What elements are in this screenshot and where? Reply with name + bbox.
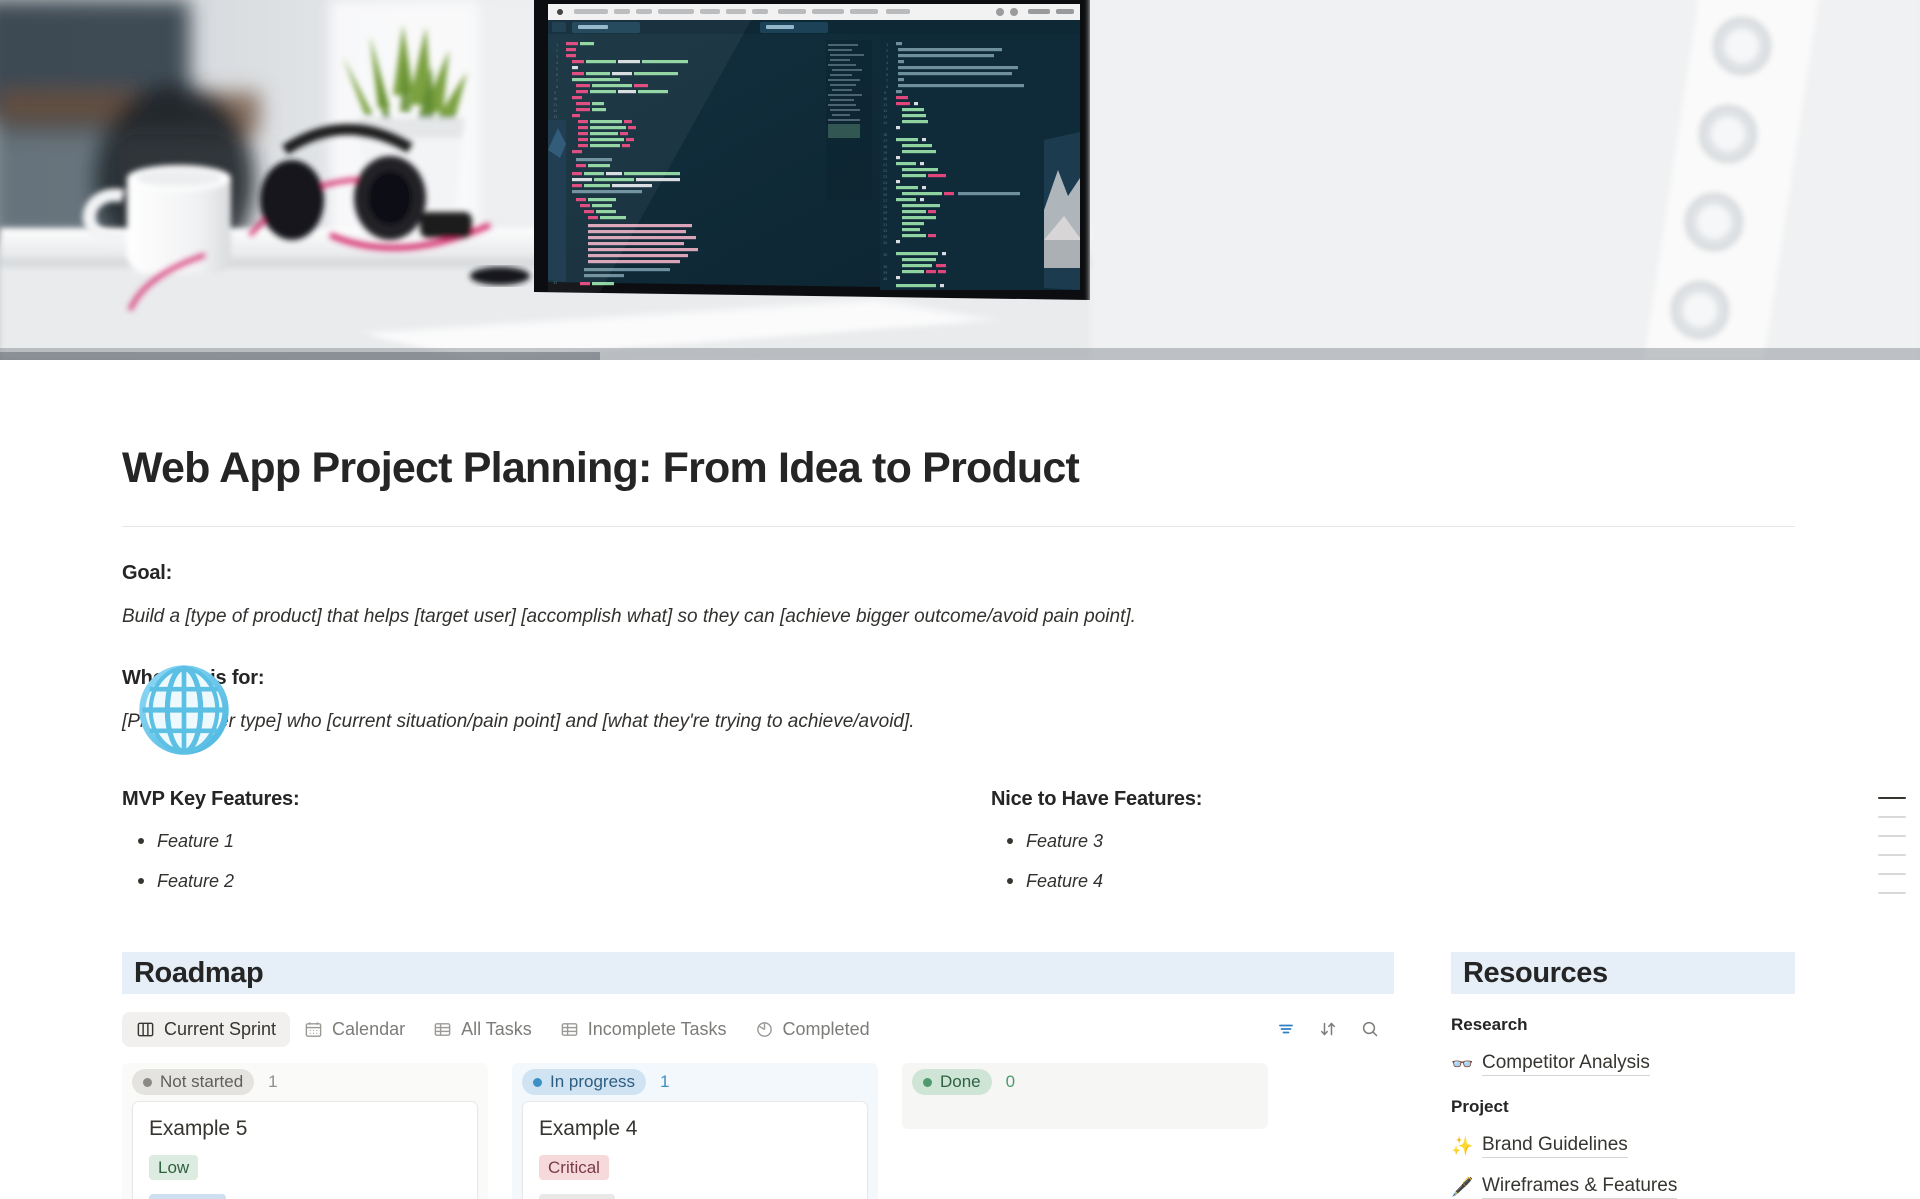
- svg-text:1: 1: [886, 43, 888, 47]
- search-icon[interactable]: [1360, 1019, 1380, 1039]
- kanban-column-body: [902, 1101, 1268, 1111]
- toc-line[interactable]: [1878, 892, 1906, 894]
- task-tag-row: Bug Fix: [539, 1194, 851, 1199]
- nice-to-have-features-column: Nice to Have Features: Feature 3 Feature…: [991, 788, 1791, 895]
- roadmap-section: Roadmap Current Sprint: [122, 952, 1394, 1199]
- svg-text:22: 22: [883, 169, 887, 173]
- svg-text:25: 25: [883, 187, 887, 191]
- goal-text: Build a [type of product] that helps [ta…: [122, 603, 1795, 632]
- toc-line[interactable]: [1878, 873, 1906, 875]
- priority-tag: Low: [149, 1155, 198, 1180]
- status-label: Done: [940, 1072, 981, 1092]
- kanban-column-body: Example 5 Low Feature: [122, 1101, 488, 1199]
- toc-line[interactable]: [1878, 797, 1906, 799]
- roadmap-title-band: Roadmap: [122, 952, 1394, 994]
- task-tag-row: Critical: [539, 1155, 851, 1180]
- task-title: Example 5: [149, 1117, 461, 1141]
- table-icon: [433, 1020, 452, 1039]
- status-badge[interactable]: Done: [912, 1069, 992, 1095]
- status-badge[interactable]: In progress: [522, 1069, 646, 1095]
- resources-group-title: Research: [1451, 1015, 1795, 1035]
- svg-text:29: 29: [883, 211, 887, 215]
- globe-icon[interactable]: [122, 658, 246, 762]
- status-dot-icon: [143, 1078, 152, 1087]
- roadmap-title: Roadmap: [134, 957, 263, 990]
- list-item: Feature 1: [122, 828, 991, 855]
- features-columns: MVP Key Features: Feature 1 Feature 2 Ni…: [122, 788, 1795, 895]
- resource-link-label: Wireframes & Features: [1482, 1175, 1677, 1199]
- status-dot-icon: [533, 1078, 542, 1087]
- svg-text:31: 31: [883, 223, 887, 227]
- svg-text:8: 8: [886, 85, 888, 89]
- kanban-column-header: Not started 1: [122, 1063, 488, 1101]
- pie-chart-icon: [755, 1020, 774, 1039]
- title-divider: [122, 526, 1795, 527]
- status-label: In progress: [550, 1072, 635, 1092]
- audience-text: [Primary user type] who [current situati…: [122, 708, 1795, 737]
- svg-text:21: 21: [883, 163, 887, 167]
- svg-text:33: 33: [883, 235, 887, 239]
- task-tag-row: Feature: [149, 1194, 461, 1199]
- tab-calendar[interactable]: Calendar: [290, 1012, 419, 1047]
- task-title: Example 4: [539, 1117, 851, 1141]
- kanban-column-header: In progress 1: [512, 1063, 878, 1101]
- card-count: 0: [1006, 1072, 1015, 1092]
- tab-label: Completed: [783, 1019, 870, 1040]
- task-tag-row: Low: [149, 1155, 461, 1180]
- resource-link-label: Competitor Analysis: [1482, 1052, 1650, 1076]
- kanban-column-header: Done 0: [902, 1063, 1268, 1101]
- resource-link-label: Brand Guidelines: [1482, 1134, 1628, 1158]
- kanban-column-done: Done 0: [902, 1063, 1268, 1129]
- svg-text:19: 19: [883, 151, 887, 155]
- svg-text:18: 18: [883, 145, 887, 149]
- svg-text:16: 16: [883, 133, 887, 137]
- svg-text:9: 9: [884, 91, 886, 95]
- resources-title: Resources: [1463, 957, 1608, 990]
- svg-text:11: 11: [883, 103, 887, 107]
- priority-tag: Critical: [539, 1155, 609, 1180]
- nice-to-have-heading: Nice to Have Features:: [991, 788, 1791, 811]
- lower-section: Roadmap Current Sprint: [122, 952, 1795, 1199]
- svg-text:13: 13: [883, 115, 887, 119]
- board-icon: [136, 1020, 155, 1039]
- svg-text:12: 12: [883, 109, 887, 113]
- status-dot-icon: [923, 1078, 932, 1087]
- kanban-board: Not started 1 Example 5 Low: [122, 1063, 1394, 1199]
- status-badge[interactable]: Not started: [132, 1069, 254, 1095]
- resource-link-wireframes-features[interactable]: 🖋️ Wireframes & Features: [1451, 1175, 1795, 1199]
- svg-text:27: 27: [883, 199, 887, 203]
- glasses-icon: 👓: [1451, 1054, 1473, 1075]
- audience-heading: Who is this for:: [122, 667, 1795, 690]
- resources-section: Resources Research 👓 Competitor Analysis…: [1451, 952, 1795, 1199]
- svg-text:38: 38: [883, 265, 887, 269]
- svg-text:10: 10: [883, 97, 887, 101]
- mvp-features-column: MVP Key Features: Feature 1 Feature 2: [122, 788, 991, 895]
- table-of-contents-indicator[interactable]: [1866, 797, 1906, 894]
- sort-icon[interactable]: [1318, 1019, 1338, 1039]
- tab-current-sprint[interactable]: Current Sprint: [122, 1012, 290, 1047]
- resource-link-competitor-analysis[interactable]: 👓 Competitor Analysis: [1451, 1052, 1795, 1076]
- fountain-pen-icon: 🖋️: [1451, 1177, 1473, 1198]
- svg-text:24: 24: [883, 181, 887, 185]
- resources-group-research: Research 👓 Competitor Analysis: [1451, 1015, 1795, 1076]
- svg-text:2: 2: [886, 49, 888, 53]
- resource-link-brand-guidelines[interactable]: ✨ Brand Guidelines: [1451, 1134, 1795, 1158]
- tab-label: All Tasks: [461, 1019, 532, 1040]
- toc-line[interactable]: [1878, 835, 1906, 837]
- list-item: Feature 2: [122, 868, 991, 895]
- type-tag: Feature: [149, 1194, 226, 1199]
- svg-text:40: 40: [883, 277, 887, 281]
- list-item: Feature 3: [991, 828, 1791, 855]
- nice-to-have-features-list: Feature 3 Feature 4: [991, 828, 1791, 895]
- svg-text:26: 26: [883, 193, 887, 197]
- svg-text:20: 20: [883, 157, 887, 161]
- svg-text:39: 39: [883, 271, 887, 275]
- tab-incomplete-tasks[interactable]: Incomplete Tasks: [546, 1012, 741, 1047]
- resources-title-band: Resources: [1451, 952, 1795, 994]
- svg-text:6: 6: [886, 73, 888, 77]
- svg-text:23: 23: [883, 175, 887, 179]
- sparkles-icon: ✨: [1451, 1136, 1473, 1157]
- table-icon: [560, 1020, 579, 1039]
- tab-all-tasks[interactable]: All Tasks: [419, 1012, 546, 1047]
- kanban-column-body: Example 4 Critical Bug Fix: [512, 1101, 878, 1199]
- goal-heading: Goal:: [122, 562, 1795, 585]
- list-item: Feature 4: [991, 868, 1791, 895]
- toc-line[interactable]: [1878, 816, 1906, 818]
- task-card[interactable]: Example 4 Critical Bug Fix: [522, 1101, 868, 1199]
- svg-text:4: 4: [886, 61, 888, 65]
- svg-text:28: 28: [883, 205, 887, 209]
- toc-line[interactable]: [1878, 854, 1906, 856]
- page-body: Web App Project Planning: From Idea to P…: [0, 360, 1920, 1199]
- mvp-features-heading: MVP Key Features:: [122, 788, 991, 811]
- filter-icon[interactable]: [1276, 1019, 1296, 1039]
- svg-text:17: 17: [883, 139, 887, 143]
- svg-text:3: 3: [886, 55, 888, 59]
- page-title: Web App Project Planning: From Idea to P…: [122, 444, 1795, 493]
- kanban-column-in-progress: In progress 1 Example 4 Critical: [512, 1063, 878, 1199]
- tab-label: Incomplete Tasks: [588, 1019, 727, 1040]
- status-label: Not started: [160, 1072, 243, 1092]
- type-tag: Bug Fix: [539, 1194, 615, 1199]
- svg-text:34: 34: [883, 241, 887, 245]
- tab-label: Current Sprint: [164, 1019, 276, 1040]
- kanban-column-not-started: Not started 1 Example 5 Low: [122, 1063, 488, 1199]
- roadmap-view-actions: [1276, 1019, 1394, 1039]
- card-count: 1: [268, 1072, 277, 1092]
- mvp-features-list: Feature 1 Feature 2: [122, 828, 991, 895]
- svg-text:32: 32: [883, 229, 887, 233]
- card-count: 1: [660, 1072, 669, 1092]
- roadmap-tabbar: Current Sprint: [122, 1006, 1394, 1052]
- svg-text:14: 14: [883, 121, 887, 125]
- resources-group-project: Project ✨ Brand Guidelines 🖋️ Wireframes…: [1451, 1097, 1795, 1199]
- svg-text:36: 36: [883, 253, 887, 257]
- cover-image[interactable]: 123 456 789 101112 131415 161718 192021 …: [0, 0, 1920, 360]
- svg-text:7: 7: [886, 79, 888, 83]
- svg-text:30: 30: [883, 217, 887, 221]
- resources-group-title: Project: [1451, 1097, 1795, 1117]
- calendar-icon: [304, 1020, 323, 1039]
- tab-completed[interactable]: Completed: [741, 1012, 884, 1047]
- svg-text:5: 5: [886, 67, 888, 71]
- task-card[interactable]: Example 5 Low Feature: [132, 1101, 478, 1199]
- tab-label: Calendar: [332, 1019, 405, 1040]
